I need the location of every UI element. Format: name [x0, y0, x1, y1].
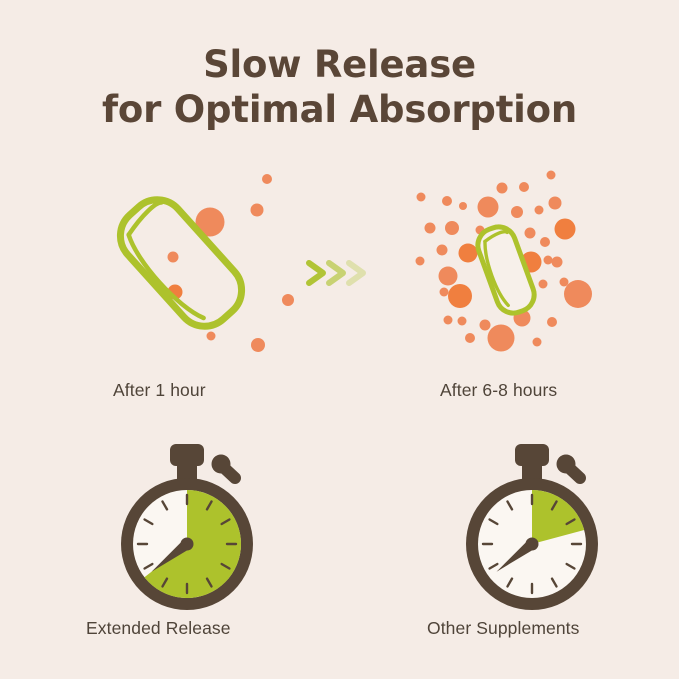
particle-dot — [544, 256, 553, 265]
intact-capsule-svg — [68, 160, 288, 360]
caption-extended-release: Extended Release — [86, 618, 231, 639]
particle-dot — [533, 338, 542, 347]
particle-dot — [459, 244, 478, 263]
particle-dot — [437, 245, 448, 256]
particle-dot — [511, 206, 523, 218]
particle-dot — [251, 204, 264, 217]
particle-dot — [549, 197, 562, 210]
particle-dot — [564, 280, 592, 308]
particle-dot — [465, 333, 475, 343]
particle-dot — [547, 171, 556, 180]
stopwatch-other-supplements — [440, 440, 615, 610]
stopwatch-extended-release — [95, 440, 270, 610]
stopwatch-side-button — [557, 455, 581, 479]
particle-dot — [207, 332, 216, 341]
particle-dot — [560, 278, 569, 287]
particle-dot — [552, 257, 563, 268]
caption-after-6-8-hours: After 6-8 hours — [440, 380, 557, 401]
infographic-canvas: Slow Release for Optimal Absorption — [0, 0, 679, 679]
particle-dot — [519, 182, 529, 192]
dissolving-capsule-svg — [400, 170, 630, 360]
particle-dot — [439, 267, 458, 286]
particle-dot — [444, 316, 453, 325]
caption-other-supplements: Other Supplements — [427, 618, 579, 639]
particle-dot — [480, 320, 491, 331]
particle-dot — [168, 252, 179, 263]
particle-dot — [478, 197, 499, 218]
particle-dot — [535, 206, 544, 215]
particle-dot — [458, 317, 467, 326]
particle-dot — [416, 257, 425, 266]
particle-dot — [547, 317, 557, 327]
particle-dot — [497, 183, 508, 194]
particle-dot — [445, 221, 459, 235]
page-title: Slow Release for Optimal Absorption — [0, 42, 679, 132]
illustration-intact-capsule — [68, 160, 288, 360]
stopwatch-left-svg — [95, 440, 270, 610]
stopwatch-right-svg — [440, 440, 615, 610]
particle-dot — [448, 284, 472, 308]
stopwatch-hand-hub — [181, 538, 194, 551]
capsule-outline-large — [109, 188, 253, 338]
particle-dot — [539, 280, 548, 289]
particle-dot — [525, 228, 536, 239]
particle-dot — [282, 294, 294, 306]
particle-dot — [440, 288, 449, 297]
stopwatch-hand-hub — [526, 538, 539, 551]
title-line-2: for Optimal Absorption — [0, 87, 679, 132]
particle-dot — [262, 174, 272, 184]
particle-dot — [417, 193, 426, 202]
illustration-dissolving-capsule — [400, 170, 630, 360]
particle-dot — [425, 223, 436, 234]
triple-chevron-icon — [305, 258, 375, 288]
particle-dot — [459, 202, 467, 210]
particle-dot — [540, 237, 550, 247]
particle-dot — [555, 219, 576, 240]
particle-dot — [251, 338, 265, 352]
particle-dot — [442, 196, 452, 206]
caption-after-1-hour: After 1 hour — [113, 380, 206, 401]
stopwatch-side-button — [212, 455, 236, 479]
flow-arrow — [305, 258, 375, 288]
title-line-1: Slow Release — [0, 42, 679, 87]
particle-dot — [488, 325, 515, 352]
